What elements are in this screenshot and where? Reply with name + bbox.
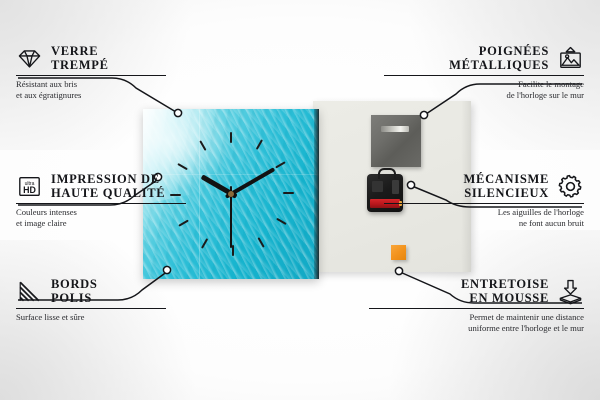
feature-desc: Couleurs intenseset image claire [16,207,186,229]
feature-mecanisme-silencieux[interactable]: MÉCANISMESILENCIEUX Les aiguilles de l'h… [384,172,584,229]
ultra-hd-icon: ultra HD [16,173,43,200]
diamond-icon [16,45,43,72]
feature-rule [16,203,186,204]
feature-title: IMPRESSION DEHAUTE QUALITÉ [51,172,165,200]
feature-rule [16,308,166,309]
foam-spacer [391,245,406,260]
bevel-edge-icon [16,278,43,305]
hanger-slot [381,126,409,132]
feature-header: BORDSPOLIS [16,277,166,305]
picture-frame-icon [557,45,584,72]
svg-text:HD: HD [23,184,36,194]
feature-title: BORDSPOLIS [51,277,98,305]
feature-header: ENTRETOISEEN MOUSSE [369,277,584,305]
feature-bords-polis[interactable]: BORDSPOLIS Surface lisse et sûre [16,277,166,323]
feature-desc: Les aiguilles de l'horlogene font aucun … [384,207,584,229]
feature-desc: Permet de maintenir une distanceuniforme… [369,312,584,334]
infographic-canvas: VERRETREMPÉ Résistant aux briset aux égr… [0,0,600,400]
feature-title: ENTRETOISEEN MOUSSE [461,277,549,305]
feature-rule [384,203,584,204]
gear-icon [557,173,584,200]
feature-poignees-metalliques[interactable]: POIGNÉESMÉTALLIQUES Facilite le montaged… [384,44,584,101]
feature-desc: Facilite le montagede l'horloge sur le m… [384,79,584,101]
hanger-plate [371,115,421,167]
feature-impression-haute-qualite[interactable]: ultra HD IMPRESSION DEHAUTE QUALITÉ Coul… [16,172,186,229]
glass-edge [314,109,319,279]
feature-desc: Résistant aux briset aux égratignures [16,79,166,101]
feature-verre-trempe[interactable]: VERRETREMPÉ Résistant aux briset aux égr… [16,44,166,101]
clock-center-cap [228,191,234,197]
feature-header: MÉCANISMESILENCIEUX [384,172,584,200]
feature-header: POIGNÉESMÉTALLIQUES [384,44,584,72]
feature-header: VERRETREMPÉ [16,44,166,72]
feature-rule [16,75,166,76]
glass-seam-vertical [199,109,200,279]
press-pad-icon [557,278,584,305]
feature-entretoise-en-mousse[interactable]: ENTRETOISEEN MOUSSE Permet de maintenir … [369,277,584,334]
feature-title: POIGNÉESMÉTALLIQUES [449,44,549,72]
feature-rule [384,75,584,76]
movement-chip-left [372,181,383,192]
feature-rule [369,308,584,309]
feature-title: MÉCANISMESILENCIEUX [464,172,549,200]
feature-header: ultra HD IMPRESSION DEHAUTE QUALITÉ [16,172,186,200]
feature-title: VERRETREMPÉ [51,44,109,72]
feature-desc: Surface lisse et sûre [16,312,166,323]
